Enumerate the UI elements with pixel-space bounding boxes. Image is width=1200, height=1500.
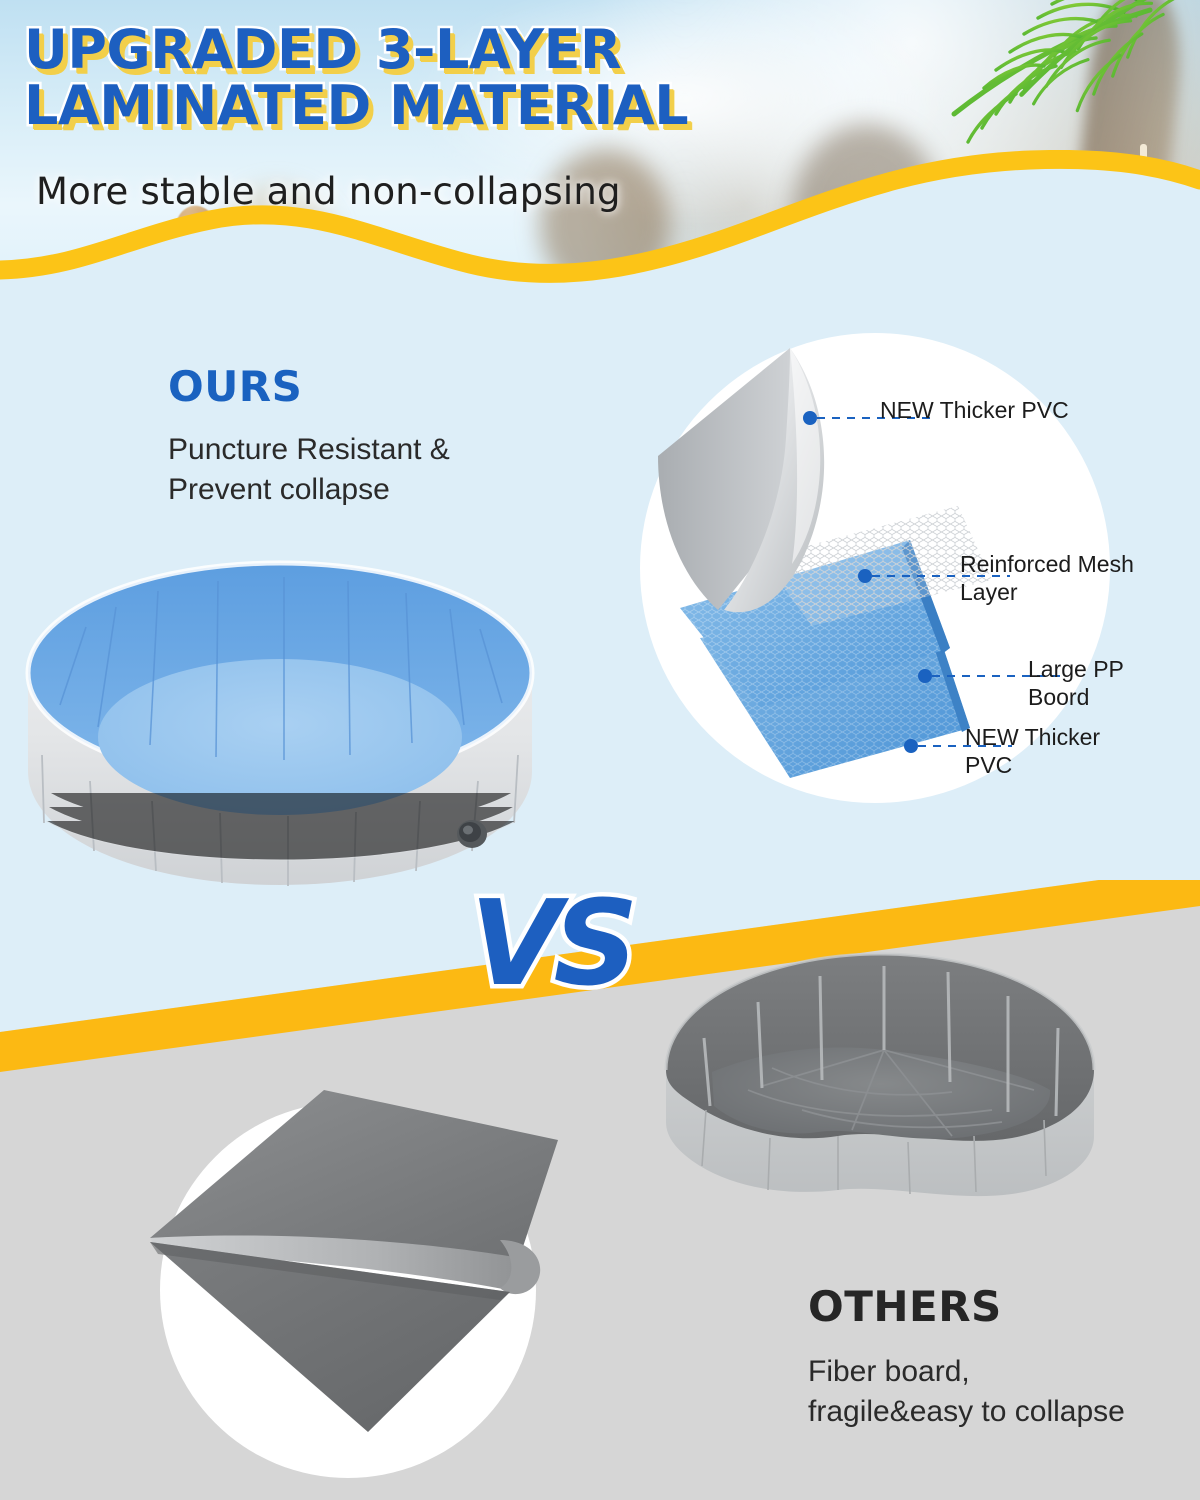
others-material-image bbox=[128, 1090, 568, 1490]
callout-label-new-thicker-pvc-bottom: NEW Thicker PVC bbox=[965, 723, 1100, 779]
drain-plug-icon bbox=[457, 820, 487, 848]
ours-label: OURS bbox=[168, 362, 302, 411]
headline-line-2: LAMINATED MATERIAL bbox=[24, 78, 904, 134]
callout-label-large-pp-boord: Large PP Boord bbox=[1028, 655, 1124, 711]
callout-label-reinforced-mesh-layer: Reinforced Mesh Layer bbox=[960, 550, 1134, 606]
header-wave-divider bbox=[0, 150, 1200, 325]
others-description: Fiber board, fragile&easy to collapse bbox=[808, 1352, 1128, 1432]
ours-product-image bbox=[20, 555, 540, 900]
vs-badge: VS bbox=[470, 884, 670, 1044]
others-label: OTHERS bbox=[808, 1282, 1002, 1331]
vs-label: VS bbox=[470, 884, 670, 1002]
infographic-page: UPGRADED 3-LAYER LAMINATED MATERIAL More… bbox=[0, 0, 1200, 1500]
ours-description: Puncture Resistant & Prevent collapse bbox=[168, 430, 498, 510]
headline-line-1: UPGRADED 3-LAYER bbox=[24, 18, 621, 81]
others-product-image bbox=[652, 940, 1107, 1240]
page-title: UPGRADED 3-LAYER LAMINATED MATERIAL bbox=[24, 22, 904, 134]
callout-label-new-thicker-pvc-top: NEW Thicker PVC bbox=[880, 396, 1069, 424]
